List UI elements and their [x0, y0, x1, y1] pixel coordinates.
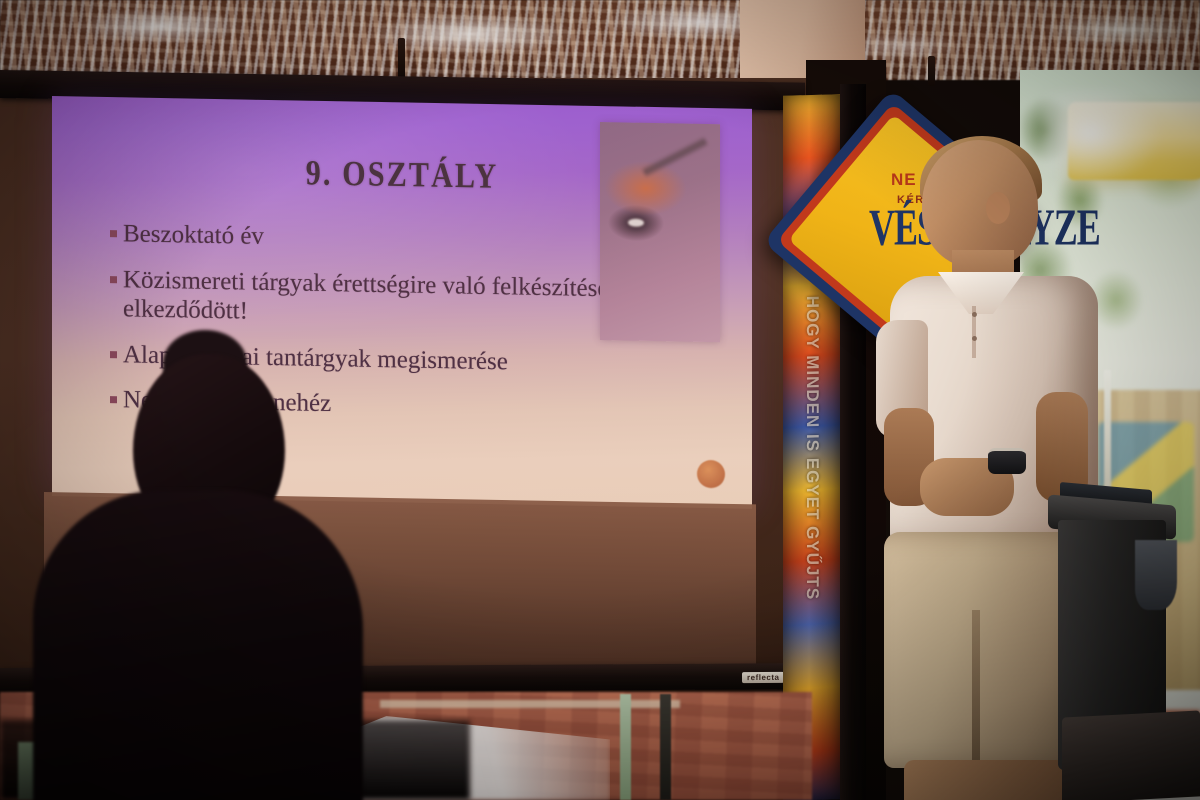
- bullet-marker-icon: [110, 276, 117, 283]
- silhouette-shoulders: [33, 490, 363, 800]
- presenter-ear: [986, 192, 1010, 224]
- presenter-legs: [904, 760, 1076, 800]
- laptop: [1062, 710, 1200, 800]
- dark-post: [660, 694, 671, 800]
- photo-scene: 9. OSZTÁLY Beszoktató év Közismereti tár…: [0, 0, 1200, 800]
- green-post: [620, 694, 631, 800]
- slide-photo-thumbnail: [600, 122, 720, 342]
- reflecta-brand-label: reflecta: [742, 672, 784, 683]
- presenter-head: [922, 140, 1038, 268]
- presenter-shorts-seam: [972, 610, 980, 766]
- ceiling-pole: [398, 38, 405, 80]
- slide-accent-dot: [697, 460, 725, 489]
- presenter-shirt-button: [972, 312, 977, 317]
- thumbnail-highlight: [628, 219, 644, 227]
- thumbnail-streak: [642, 138, 707, 176]
- ceiling-pole: [928, 56, 935, 86]
- bullet-marker-icon: [110, 230, 117, 237]
- audience-silhouette: [25, 330, 365, 800]
- wristwatch: [988, 448, 1026, 474]
- floor-rail: [380, 700, 680, 708]
- presenter-shirt-button: [972, 336, 977, 341]
- bin-liner-bag: [1135, 540, 1177, 610]
- ceiling-light-dapple: [0, 0, 1200, 80]
